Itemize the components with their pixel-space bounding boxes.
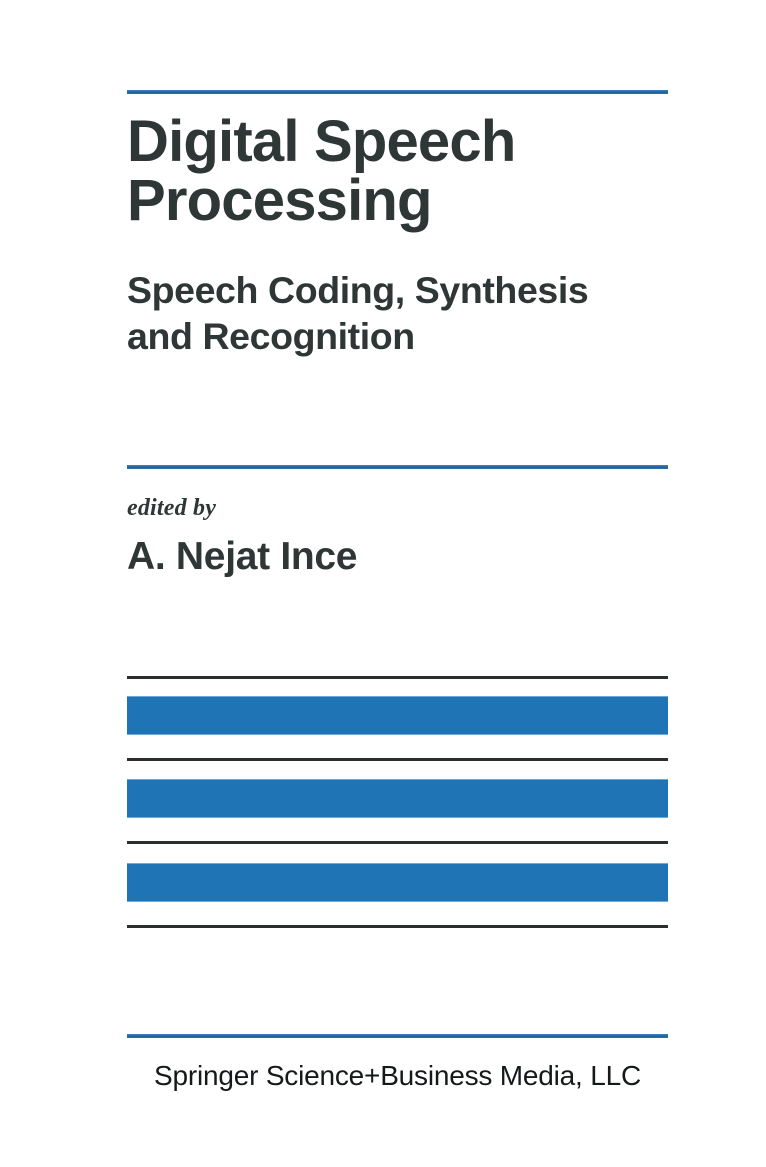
decorative-band xyxy=(127,676,668,938)
book-subtitle-line-2: and Recognition xyxy=(127,314,668,360)
top-divider-rule xyxy=(127,90,668,94)
book-title: Digital Speech Processing xyxy=(127,112,668,230)
decor-blue-bar-3 xyxy=(127,863,668,902)
book-title-line-2: Processing xyxy=(127,171,668,230)
decor-dark-rule-2 xyxy=(127,758,668,761)
decor-blue-bar-2 xyxy=(127,779,668,818)
decor-dark-rule-3 xyxy=(127,841,668,844)
decor-dark-rule-4 xyxy=(127,925,668,928)
editor-name: A. Nejat Ince xyxy=(127,536,668,579)
editor-divider-rule xyxy=(127,465,668,469)
decor-dark-rule-1 xyxy=(127,676,668,679)
book-cover: Digital Speech Processing Speech Coding,… xyxy=(0,0,766,1167)
book-subtitle: Speech Coding, Synthesis and Recognition xyxy=(127,268,668,360)
decor-blue-bar-1 xyxy=(127,696,668,735)
edited-by-label: edited by xyxy=(127,495,668,522)
book-subtitle-line-1: Speech Coding, Synthesis xyxy=(127,268,668,314)
publisher-name: Springer Science+Business Media, LLC xyxy=(127,1060,668,1092)
publisher-divider-rule xyxy=(127,1034,668,1038)
book-title-line-1: Digital Speech xyxy=(127,112,668,171)
